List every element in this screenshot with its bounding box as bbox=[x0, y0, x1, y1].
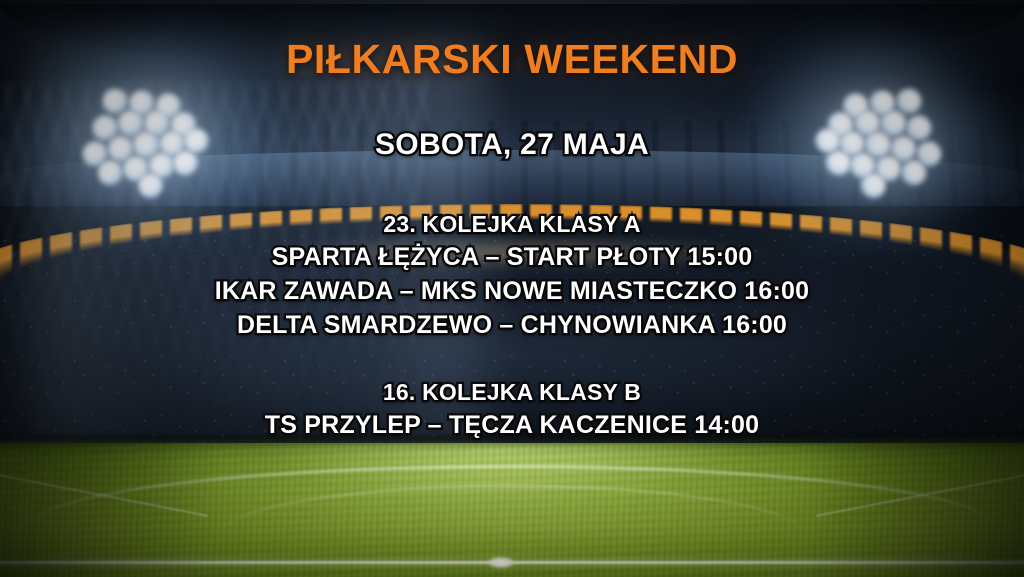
poster: PIŁKARSKI WEEKEND SOBOTA, 27 MAJA 23. KO… bbox=[0, 0, 1024, 577]
match-row: DELTA SMARDZEWO – CHYNOWIANKA 16:00 bbox=[0, 308, 1024, 342]
poster-date-subtitle: SOBOTA, 27 MAJA bbox=[0, 128, 1024, 162]
round-section-klasa-b: 16. KOLEJKA KLASY B TS PRZYLEP – TĘCZA K… bbox=[0, 376, 1024, 442]
match-row: TS PRZYLEP – TĘCZA KACZENICE 14:00 bbox=[0, 408, 1024, 442]
match-row: IKAR ZAWADA – MKS NOWE MIASTECZKO 16:00 bbox=[0, 274, 1024, 308]
poster-content: PIŁKARSKI WEEKEND SOBOTA, 27 MAJA 23. KO… bbox=[0, 0, 1024, 577]
round-section-klasa-a: 23. KOLEJKA KLASY A SPARTA ŁĘŻYCA – STAR… bbox=[0, 208, 1024, 342]
round-title-klasa-b: 16. KOLEJKA KLASY B bbox=[0, 376, 1024, 408]
match-row: SPARTA ŁĘŻYCA – START PŁOTY 15:00 bbox=[0, 240, 1024, 274]
round-title-klasa-a: 23. KOLEJKA KLASY A bbox=[0, 208, 1024, 240]
page-title: PIŁKARSKI WEEKEND bbox=[0, 36, 1024, 83]
